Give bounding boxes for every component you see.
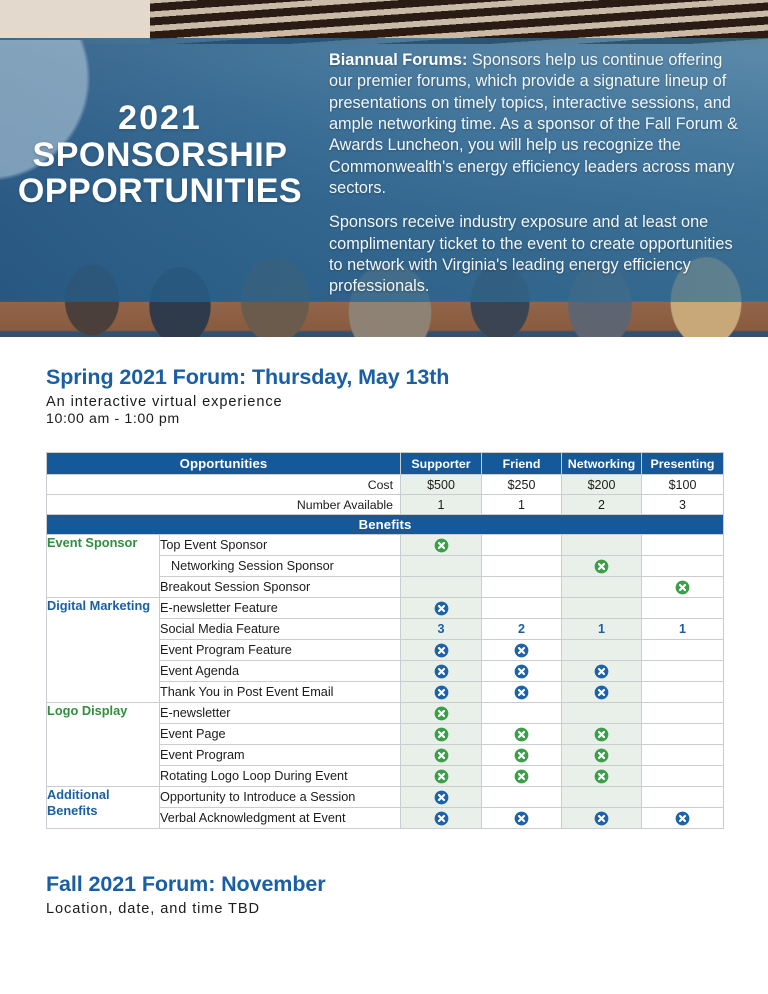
benefit-label: Breakout Session Sponsor (160, 577, 401, 598)
benefit-label: E-newsletter Feature (160, 598, 401, 619)
cell-friend (482, 745, 562, 766)
cell-supporter: 3 (401, 619, 482, 640)
check-circle-green-icon (514, 727, 529, 742)
cell-supporter (401, 703, 482, 724)
check-circle-blue-icon (514, 643, 529, 658)
cell-supporter (401, 682, 482, 703)
category-additional-benefits: Additional Benefits (47, 787, 160, 829)
cell-networking (562, 598, 642, 619)
cell-supporter (401, 808, 482, 829)
cell-presenting (642, 724, 724, 745)
cell-friend: $250 (482, 475, 562, 495)
benefit-label: Event Agenda (160, 661, 401, 682)
table-row-cost: Cost$500$250$200$100 (47, 475, 724, 495)
check-circle-blue-icon (434, 685, 449, 700)
row-label: Cost (47, 475, 401, 495)
check-circle-blue-icon (434, 601, 449, 616)
cell-presenting (642, 808, 724, 829)
spring-forum-subtitle: An interactive virtual experience (46, 394, 449, 410)
cell-supporter (401, 766, 482, 787)
cell-networking: 2 (562, 495, 642, 515)
cell-friend (482, 598, 562, 619)
cell-presenting (642, 598, 724, 619)
benefit-label: Rotating Logo Loop During Event (160, 766, 401, 787)
hero-title-year: 2021 (0, 100, 320, 137)
check-circle-green-icon (434, 706, 449, 721)
cell-supporter: $500 (401, 475, 482, 495)
check-circle-blue-icon (675, 811, 690, 826)
cell-presenting (642, 766, 724, 787)
check-circle-green-icon (514, 769, 529, 784)
cell-networking: $200 (562, 475, 642, 495)
check-circle-green-icon (434, 748, 449, 763)
hero-banner: 2021 SPONSORSHIP OPPORTUNITIES Biannual … (0, 0, 768, 337)
benefit-label: Event Page (160, 724, 401, 745)
check-circle-blue-icon (434, 811, 449, 826)
column-header-opportunities: Opportunities (47, 453, 401, 475)
check-circle-green-icon (514, 748, 529, 763)
hero-title-line3: OPPORTUNITIES (18, 172, 302, 210)
cell-networking (562, 682, 642, 703)
cell-friend: 2 (482, 619, 562, 640)
cell-value: 2 (518, 622, 525, 636)
spring-forum-heading-block: Spring 2021 Forum: Thursday, May 13th An… (46, 365, 449, 427)
check-circle-green-icon (434, 538, 449, 553)
benefit-label: Thank You in Post Event Email (160, 682, 401, 703)
check-circle-green-icon (594, 559, 609, 574)
cell-friend (482, 682, 562, 703)
category-logo-display: Logo Display (47, 703, 160, 787)
benefit-label: Opportunity to Introduce a Session (160, 787, 401, 808)
cell-presenting (642, 682, 724, 703)
fall-forum-title: Fall 2021 Forum: November (46, 872, 325, 897)
cell-value: 1 (679, 622, 686, 636)
cell-presenting (642, 703, 724, 724)
check-circle-blue-icon (514, 685, 529, 700)
fall-forum-subtitle: Location, date, and time TBD (46, 901, 325, 917)
cell-networking (562, 766, 642, 787)
cell-presenting (642, 661, 724, 682)
cell-networking (562, 808, 642, 829)
cell-supporter (401, 598, 482, 619)
cell-friend: 1 (482, 495, 562, 515)
cell-friend (482, 787, 562, 808)
cell-networking (562, 745, 642, 766)
benefit-label: E-newsletter (160, 703, 401, 724)
benefits-label: Benefits (47, 515, 724, 535)
table-row: Logo DisplayE-newsletter (47, 703, 724, 724)
cell-supporter (401, 640, 482, 661)
cell-value: 1 (598, 622, 605, 636)
cell-friend (482, 556, 562, 577)
cell-supporter: 1 (401, 495, 482, 515)
benefit-label: Social Media Feature (160, 619, 401, 640)
cell-supporter (401, 535, 482, 556)
table-row: Event SponsorTop Event Sponsor (47, 535, 724, 556)
check-circle-blue-icon (594, 811, 609, 826)
table-row: Additional BenefitsOpportunity to Introd… (47, 787, 724, 808)
cell-presenting (642, 577, 724, 598)
cell-friend (482, 808, 562, 829)
cell-supporter (401, 577, 482, 598)
hero-description: Biannual Forums: Sponsors help us contin… (329, 50, 749, 298)
spring-forum-title: Spring 2021 Forum: Thursday, May 13th (46, 365, 449, 390)
cell-friend (482, 640, 562, 661)
check-circle-blue-icon (434, 664, 449, 679)
fall-forum-heading-block: Fall 2021 Forum: November Location, date… (46, 872, 325, 918)
cell-friend (482, 577, 562, 598)
cell-presenting: $100 (642, 475, 724, 495)
cell-networking (562, 703, 642, 724)
column-header-presenting: Presenting (642, 453, 724, 475)
row-label: Number Available (47, 495, 401, 515)
cell-friend (482, 703, 562, 724)
hero-paragraph-2: Sponsors receive industry exposure and a… (329, 212, 749, 297)
cell-supporter (401, 556, 482, 577)
check-circle-blue-icon (594, 664, 609, 679)
column-header-friend: Friend (482, 453, 562, 475)
cell-friend (482, 661, 562, 682)
cell-friend (482, 766, 562, 787)
category-digital-marketing: Digital Marketing (47, 598, 160, 703)
cell-networking (562, 724, 642, 745)
benefit-label: Top Event Sponsor (160, 535, 401, 556)
cell-supporter (401, 661, 482, 682)
cell-presenting (642, 640, 724, 661)
cell-networking (562, 535, 642, 556)
cell-presenting: 3 (642, 495, 724, 515)
cell-supporter (401, 787, 482, 808)
cell-friend (482, 535, 562, 556)
check-circle-blue-icon (594, 685, 609, 700)
cell-friend (482, 724, 562, 745)
hero-paragraph-1-body: Sponsors help us continue offering our p… (329, 51, 738, 197)
sponsorship-benefits-table-wrapper: OpportunitiesSupporterFriendNetworkingPr… (46, 452, 723, 829)
cell-networking (562, 577, 642, 598)
column-header-networking: Networking (562, 453, 642, 475)
benefit-label: Event Program (160, 745, 401, 766)
cell-networking (562, 787, 642, 808)
check-circle-green-icon (675, 580, 690, 595)
table-body: OpportunitiesSupporterFriendNetworkingPr… (47, 453, 724, 829)
cell-supporter (401, 745, 482, 766)
check-circle-green-icon (594, 727, 609, 742)
benefits-section-bar: Benefits (47, 515, 724, 535)
cell-presenting (642, 535, 724, 556)
cell-presenting (642, 787, 724, 808)
cell-networking (562, 556, 642, 577)
cell-networking (562, 661, 642, 682)
hero-paragraph-1-lead: Biannual Forums: (329, 51, 467, 69)
cell-presenting (642, 556, 724, 577)
table-header-row: OpportunitiesSupporterFriendNetworkingPr… (47, 453, 724, 475)
category-event-sponsor: Event Sponsor (47, 535, 160, 598)
benefit-label: Verbal Acknowledgment at Event (160, 808, 401, 829)
cell-presenting: 1 (642, 619, 724, 640)
cell-networking (562, 640, 642, 661)
check-circle-green-icon (594, 748, 609, 763)
column-header-supporter: Supporter (401, 453, 482, 475)
check-circle-green-icon (434, 727, 449, 742)
benefit-label: Networking Session Sponsor (160, 556, 401, 577)
hero-title-line2: SPONSORSHIP (33, 136, 288, 174)
cell-networking: 1 (562, 619, 642, 640)
spring-forum-time: 10:00 am - 1:00 pm (46, 411, 449, 427)
sponsorship-benefits-table: OpportunitiesSupporterFriendNetworkingPr… (46, 452, 724, 829)
check-circle-blue-icon (514, 664, 529, 679)
cell-value: 3 (437, 622, 444, 636)
hero-paragraph-1: Biannual Forums: Sponsors help us contin… (329, 50, 749, 199)
check-circle-blue-icon (434, 643, 449, 658)
sponsorship-flyer-page: 2021 SPONSORSHIP OPPORTUNITIES Biannual … (0, 0, 768, 994)
benefit-label: Event Program Feature (160, 640, 401, 661)
cell-supporter (401, 724, 482, 745)
check-circle-blue-icon (514, 811, 529, 826)
table-row: Digital MarketingE-newsletter Feature (47, 598, 724, 619)
table-row-number-available: Number Available1123 (47, 495, 724, 515)
check-circle-blue-icon (434, 790, 449, 805)
hero-title: 2021 SPONSORSHIP OPPORTUNITIES (0, 100, 320, 210)
cell-presenting (642, 745, 724, 766)
check-circle-green-icon (594, 769, 609, 784)
check-circle-green-icon (434, 769, 449, 784)
